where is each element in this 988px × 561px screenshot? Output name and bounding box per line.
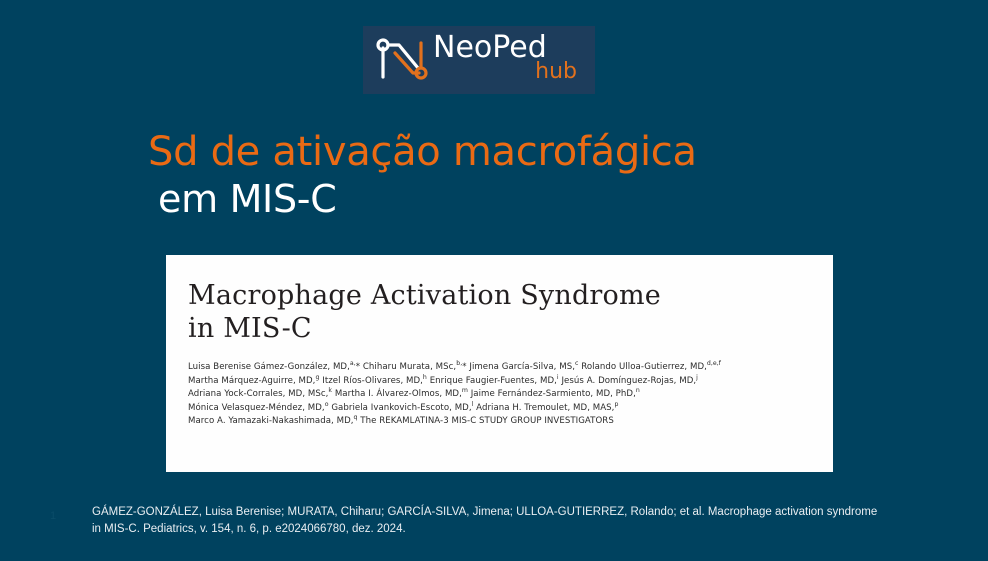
affiliation-marker: q (354, 415, 358, 422)
slide-canvas: NeoPed hub Sd de ativação macrofágica em… (0, 0, 988, 561)
neoped-graph-mark (373, 37, 431, 83)
slide-title-line2: em MIS-C (158, 176, 848, 222)
paper-content: Macrophage Activation Syndrome in MIS-C … (188, 279, 825, 429)
affiliation-marker: j (696, 374, 698, 381)
paper-title-line1: Macrophage Activation Syndrome (188, 279, 825, 312)
slide-title-line1: Sd de ativação macrofágica (148, 128, 848, 176)
paper-author-line: Adriana Yock-Corrales, MD, MSc,k Martha … (188, 388, 808, 402)
affiliation-marker: i (557, 374, 559, 381)
paper-screenshot-card: Macrophage Activation Syndrome in MIS-C … (166, 255, 833, 472)
affiliation-marker: c (575, 360, 578, 367)
affiliation-marker: k (328, 387, 332, 394)
affiliation-marker: h (423, 374, 427, 381)
paper-author-line: Luisa Berenise Gámez-González, MD,a,* Ch… (188, 361, 808, 375)
paper-author-line: Marco A. Yamazaki-Nakashimada, MD,q The … (188, 415, 808, 429)
paper-title-line2: in MIS-C (188, 312, 825, 345)
logo-wordmark: NeoPed hub (433, 32, 583, 88)
affiliation-marker: m (462, 387, 468, 394)
slide-number: 1 (50, 510, 56, 522)
slide-title: Sd de ativação macrofágica em MIS-C (148, 128, 848, 222)
affiliation-marker: a, (350, 360, 356, 367)
paper-author-list: Luisa Berenise Gámez-González, MD,a,* Ch… (188, 361, 808, 429)
logo-name-primary: NeoPed (433, 32, 547, 64)
logo-name-secondary: hub (535, 60, 577, 84)
affiliation-marker: d,e,f (707, 360, 721, 367)
affiliation-marker: o (325, 401, 329, 408)
affiliation-marker: l (472, 401, 474, 408)
neoped-hub-logo[interactable]: NeoPed hub (363, 26, 595, 94)
affiliation-marker: b, (456, 360, 462, 367)
affiliation-marker: n (636, 387, 640, 394)
paper-author-line: Martha Márquez-Aguirre, MD,g Itzel Ríos-… (188, 375, 808, 389)
affiliation-marker: g (315, 374, 319, 381)
paper-author-line: Mónica Velasquez-Méndez, MD,o Gabriela I… (188, 402, 808, 416)
affiliation-marker: p (614, 401, 618, 408)
citation-text: GÁMEZ-GONZÁLEZ, Luisa Berenise; MURATA, … (92, 504, 882, 538)
